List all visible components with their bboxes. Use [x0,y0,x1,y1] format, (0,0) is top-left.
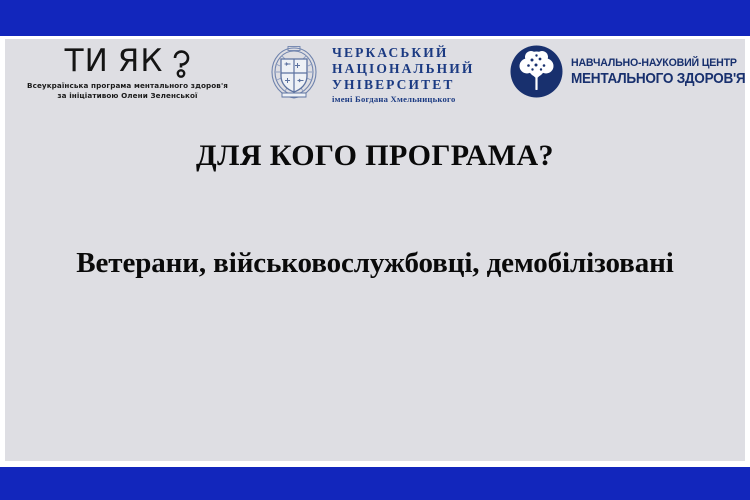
university-crest-icon [263,42,325,104]
question-mark-icon [172,45,190,78]
top-blue-bar [0,0,750,36]
ty-yak-word-yak: ЯК [118,46,164,77]
bottom-blue-bar [0,468,750,500]
content-panel-inner: ТИ ЯК Всеукраїнська програма ментального… [5,39,745,461]
university-line-2: НАЦІОНАЛЬНИЙ [332,61,474,77]
center-text-block: НАВЧАЛЬНО-НАУКОВИЙ ЦЕНТР МЕНТАЛЬНОГО ЗДО… [571,54,750,89]
ty-yak-wordmark: ТИ ЯК [25,45,230,78]
center-line-2: МЕНТАЛЬНОГО ЗДОРОВ'Я [571,71,745,89]
logo-row: ТИ ЯК Всеукраїнська програма ментального… [5,39,745,109]
ty-yak-tagline: Всеукраїнська програма ментального здоро… [25,81,230,100]
slide: ТИ ЯК Всеукраїнська програма ментального… [0,0,750,500]
logo-ty-yak: ТИ ЯК Всеукраїнська програма ментального… [25,45,230,100]
page-subtitle: Ветерани, військовослужбовці, демобілізо… [5,247,745,280]
logo-mental-health-center: НАВЧАЛЬНО-НАУКОВИЙ ЦЕНТР МЕНТАЛЬНОГО ЗДО… [510,45,750,98]
university-line-1: ЧЕРКАСЬКИЙ [332,45,474,61]
ty-yak-word-ty: ТИ [65,46,109,77]
tree-circle-icon [510,45,563,98]
content-panel: ТИ ЯК Всеукраїнська програма ментального… [0,36,750,467]
center-line-1: НАВЧАЛЬНО-НАУКОВИЙ ЦЕНТР [571,56,745,70]
university-subtitle: імені Богдана Хмельницького [332,94,474,105]
university-line-3: УНІВЕРСИТЕТ [332,77,474,93]
page-title: ДЛЯ КОГО ПРОГРАМА? [5,139,745,173]
ty-yak-tagline-line2: за ініціативою Олени Зеленської [25,91,230,101]
university-text-block: ЧЕРКАСЬКИЙ НАЦІОНАЛЬНИЙ УНІВЕРСИТЕТ імен… [332,41,474,105]
ty-yak-tagline-line1: Всеукраїнська програма ментального здоро… [25,81,230,91]
logo-cherkasy-university: ЧЕРКАСЬКИЙ НАЦІОНАЛЬНИЙ УНІВЕРСИТЕТ імен… [263,41,474,105]
